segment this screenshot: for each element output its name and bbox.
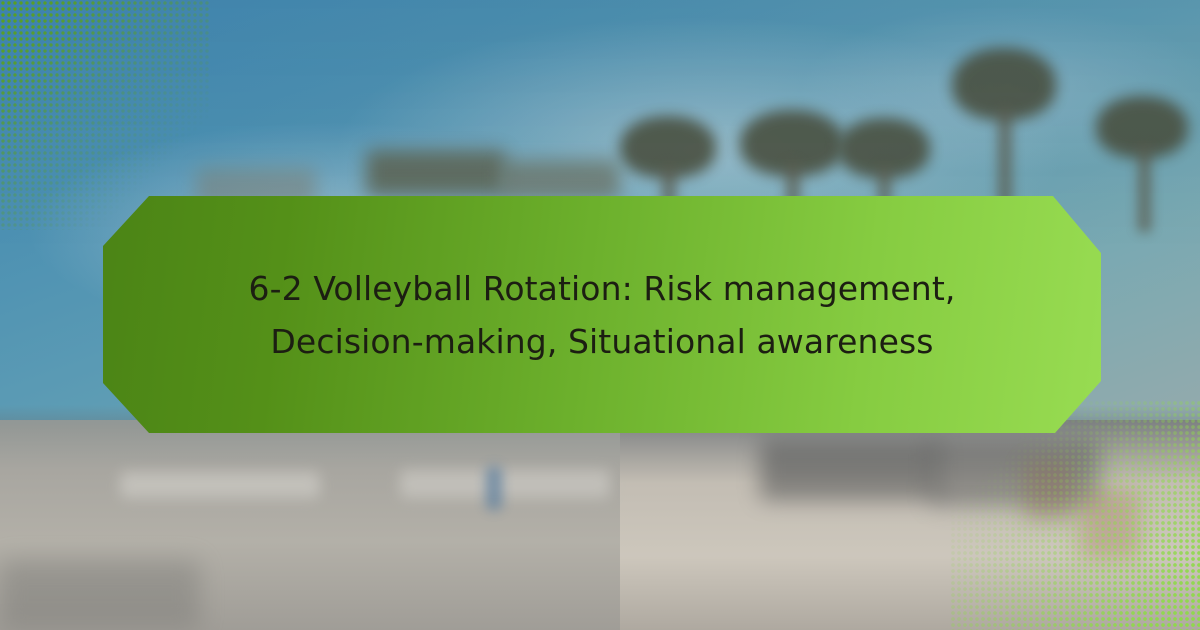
page-title-line-2: Decision-making, Situational awareness bbox=[249, 315, 956, 368]
page-title-line-1: 6-2 Volleyball Rotation: Risk management… bbox=[249, 262, 956, 315]
halftone-dots-bottom-right bbox=[950, 400, 1200, 630]
title-banner: 6-2 Volleyball Rotation: Risk management… bbox=[103, 196, 1101, 433]
page-title: 6-2 Volleyball Rotation: Risk management… bbox=[225, 262, 980, 368]
share-card: 6-2 Volleyball Rotation: Risk management… bbox=[0, 0, 1200, 630]
halftone-dots-top-left bbox=[0, 0, 210, 230]
